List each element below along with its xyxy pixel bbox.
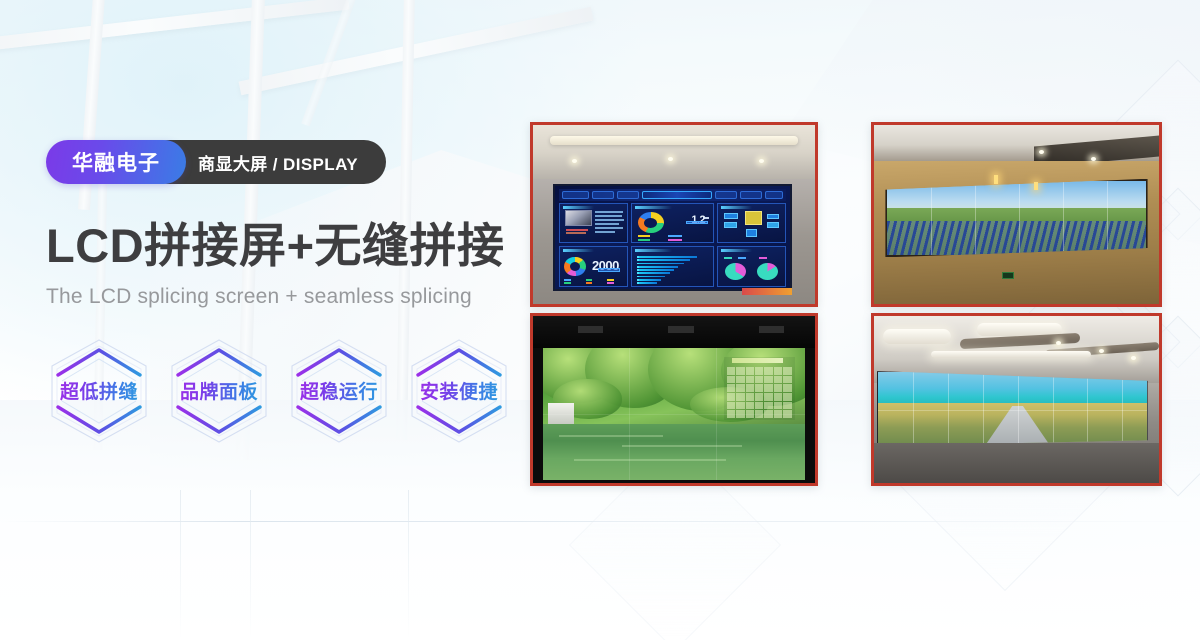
- background-floor-reflection-2: [250, 490, 251, 640]
- feature-label: 安装便捷: [420, 377, 498, 404]
- page-subtitle: The LCD splicing screen + seamless splic…: [46, 285, 526, 309]
- feature-item-4[interactable]: 安装便捷: [406, 335, 512, 447]
- background-floor-reflection-1: [180, 490, 181, 640]
- photo-dashboard-video-wall[interactable]: 1.2: [530, 122, 818, 307]
- feature-label: 超稳运行: [300, 377, 378, 404]
- feature-label: 品牌面板: [180, 377, 258, 404]
- feature-item-1[interactable]: 超低拼缝: [46, 335, 152, 447]
- promo-banner: 商显大屏 / DISPLAY 华融电子 LCD拼接屏+无缝拼接 The LCD …: [0, 0, 1200, 640]
- photo-beach-boardwalk-video-wall[interactable]: [871, 313, 1162, 486]
- background-beam-horizontal-1: [0, 0, 350, 52]
- feature-label: 超低拼缝: [60, 377, 138, 404]
- background-beam-horizontal-2: [238, 7, 593, 96]
- photo-lake-scenery-screen[interactable]: [530, 313, 818, 486]
- background-floor-line: [0, 521, 1200, 522]
- brand-badge: 华融电子: [46, 140, 186, 184]
- badge-row: 商显大屏 / DISPLAY 华融电子: [46, 140, 386, 184]
- feature-item-3[interactable]: 超稳运行: [286, 335, 392, 447]
- background-floor-reflection-3: [408, 490, 409, 640]
- background-beam-vertical-5: [301, 0, 368, 126]
- feature-item-2[interactable]: 品牌面板: [166, 335, 272, 447]
- feature-list: 超低拼缝 品牌面板: [46, 335, 526, 447]
- photo-solar-farm-video-wall[interactable]: [871, 122, 1162, 307]
- banner-content: 商显大屏 / DISPLAY 华融电子 LCD拼接屏+无缝拼接 The LCD …: [46, 140, 526, 447]
- page-title: LCD拼接屏+无缝拼接: [46, 222, 526, 271]
